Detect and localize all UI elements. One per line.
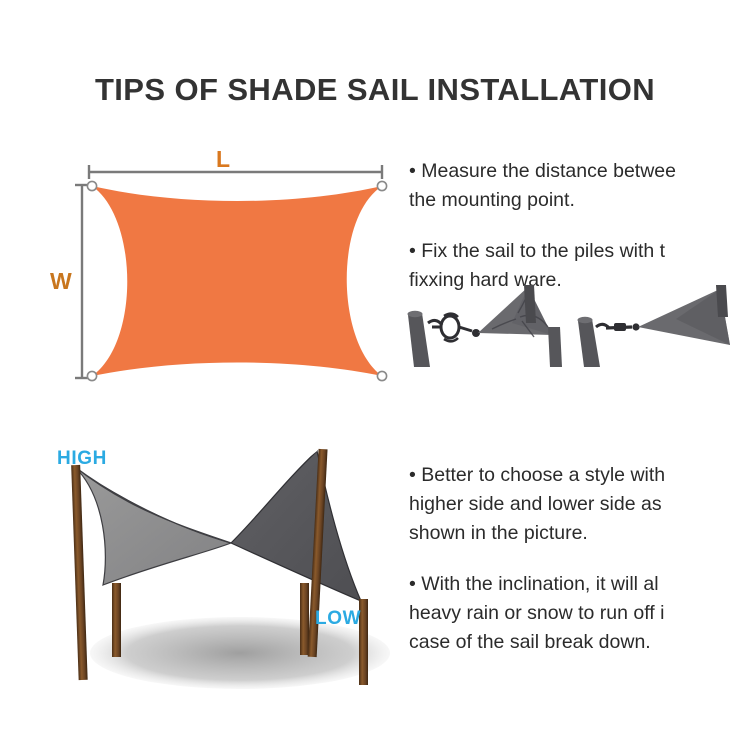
canopy-svg [35, 435, 415, 710]
tip-line: higher side and lower side as [409, 493, 662, 515]
tip-line: • Fix the sail to the piles with t [409, 240, 665, 262]
tip-line: case of the sail break down. [409, 631, 651, 653]
tip-line: • Measure the distance betwee [409, 160, 676, 182]
tips-text-top: • Measure the distance betwee the mounti… [409, 157, 750, 295]
sail-fabric-shape [92, 186, 382, 376]
tip-line: • Better to choose a style with [409, 464, 665, 486]
sail-svg [60, 140, 410, 400]
tip-measure-distance: • Measure the distance betwee the mounti… [409, 157, 750, 215]
width-dimension-line [75, 185, 89, 378]
pole-back-left [112, 583, 121, 657]
hardware-assembly-left [408, 285, 563, 367]
canopy-low-label: LOW [315, 608, 361, 630]
pole-back-right [300, 583, 309, 655]
tip-line: heavy rain or snow to run off i [409, 602, 664, 624]
page-title: TIPS OF SHADE SAIL INSTALLATION [0, 72, 750, 108]
tips-text-bottom: • Better to choose a style with higher s… [409, 461, 750, 657]
tip-choose-style: • Better to choose a style with higher s… [409, 461, 750, 548]
infographic-page: TIPS OF SHADE SAIL INSTALLATION [0, 0, 750, 750]
hardware-assembly-right [578, 285, 731, 367]
sail-width-label: W [50, 268, 72, 295]
shade-sail-dimension-diagram [60, 140, 410, 400]
tip-line: • With the inclination, it will al [409, 573, 659, 595]
pole-front-left-high [71, 465, 87, 680]
hardware-svg [400, 283, 750, 368]
hardware-illustrations [400, 283, 750, 368]
sail-length-label: L [216, 146, 231, 173]
length-dimension-line [89, 165, 382, 179]
tip-line: the mounting point. [409, 189, 575, 211]
inclined-canopy-diagram [35, 435, 415, 710]
tip-line: shown in the picture. [409, 522, 588, 544]
canopy-high-label: HIGH [57, 448, 107, 470]
tip-inclination-runoff: • With the inclination, it will al heavy… [409, 570, 750, 657]
